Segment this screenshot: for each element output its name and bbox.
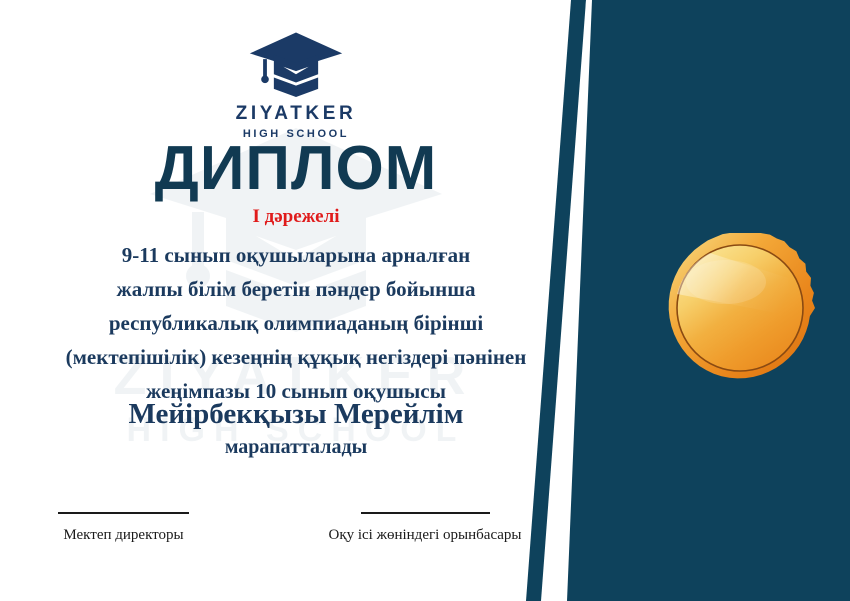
signature-label-deputy: Оқу ісі жөніндегі орынбасары bbox=[300, 527, 550, 544]
body-line-2: жалпы білім беретін пәндер бойынша bbox=[0, 272, 592, 306]
awarded-text: марапатталады bbox=[0, 436, 592, 459]
body-line-1: 9-11 сынып оқушыларына арналған bbox=[0, 238, 592, 272]
certificate-body: 9-11 сынып оқушыларына арналған жалпы бі… bbox=[0, 238, 592, 408]
gold-award-seal-icon bbox=[665, 233, 815, 383]
body-line-3: республикалық олимпиаданың бірінші bbox=[0, 306, 592, 340]
signature-label-director: Мектеп директоры bbox=[16, 527, 231, 544]
school-logo: ZIYATKER HIGH SCHOOL bbox=[0, 30, 592, 140]
signature-block-director: Мектеп директоры bbox=[16, 512, 231, 544]
signature-line bbox=[361, 512, 490, 514]
certificate-degree: I дәрежелі bbox=[0, 206, 592, 228]
signature-block-deputy: Оқу ісі жөніндегі орынбасары bbox=[300, 512, 550, 544]
certificate-title: ДИПЛОМ bbox=[0, 138, 592, 200]
signature-line bbox=[58, 512, 189, 514]
recipient-name: Мейірбекқызы Мерейлім bbox=[0, 396, 592, 432]
certificate-content: ZIYATKER HIGH SCHOOL ДИПЛОМ I дәрежелі 9… bbox=[0, 0, 592, 601]
certificate-page: ZIYATKER HIGH SCHOOL bbox=[0, 0, 850, 601]
graduation-cap-book-icon bbox=[0, 30, 592, 98]
school-name: ZIYATKER bbox=[0, 103, 592, 125]
body-line-4: (мектепішілік) кезеңнің құқық негіздері … bbox=[0, 340, 592, 374]
